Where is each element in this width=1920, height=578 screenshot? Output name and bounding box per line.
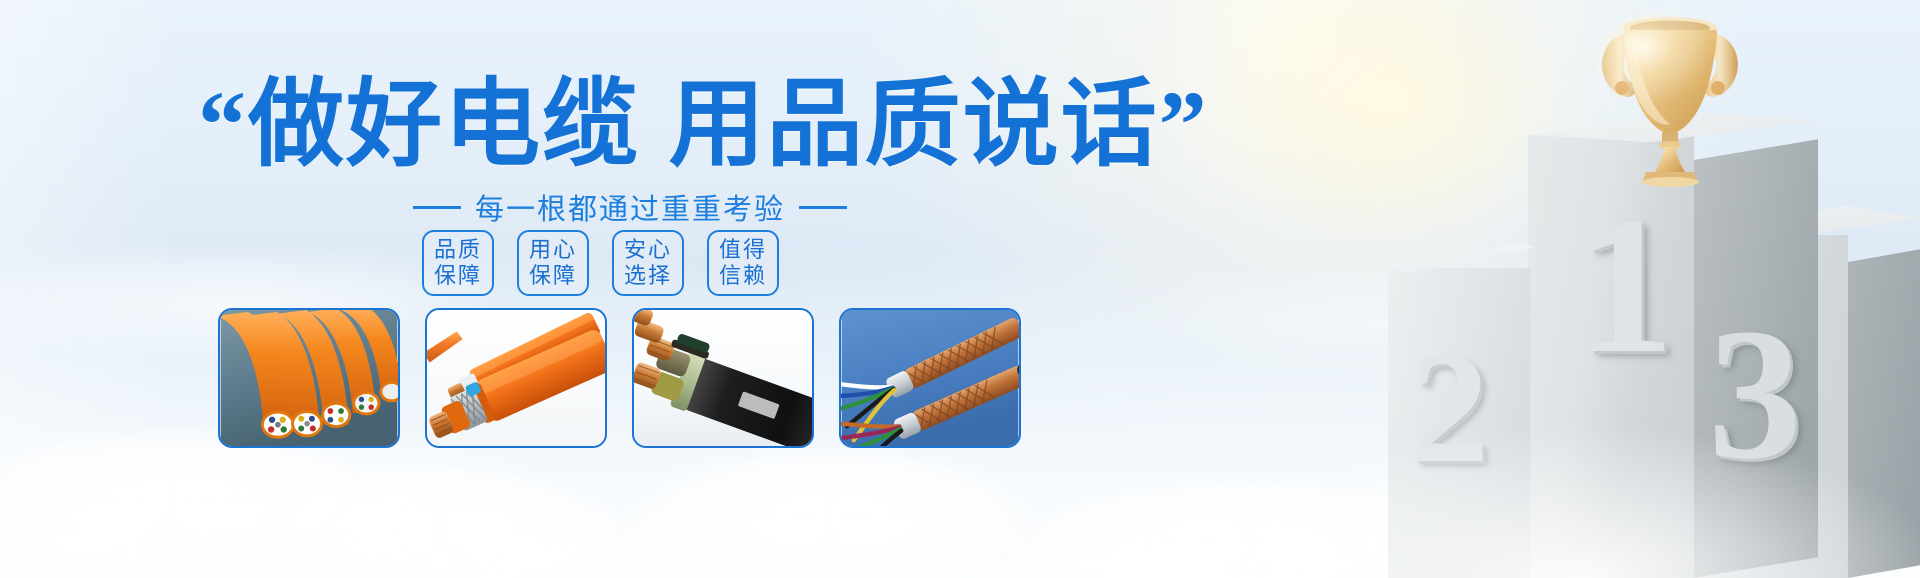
cable-promo-banner: 2 1 3: [0, 0, 1920, 578]
subtitle-text: 每一根都通过重重考验: [475, 186, 785, 228]
headline-part-1: 做好电缆: [248, 71, 640, 178]
product-thumbnail-armored-power-cable[interactable]: [632, 308, 814, 448]
badge-quality-assurance: 品质 保障: [422, 230, 494, 296]
badge-confident-choice: 安心 选择: [612, 230, 684, 296]
product-thumbnail-copper-core-cutaway[interactable]: [425, 308, 607, 448]
product-thumbnail-orange-multicore[interactable]: [218, 308, 400, 448]
winner-podium-group: 2 1 3: [1260, 0, 1920, 578]
podium-block-third-side: [1848, 249, 1920, 578]
product-thumbnail-shielded-control-cable[interactable]: [839, 308, 1021, 448]
badge-line-2: 选择: [624, 263, 672, 289]
badge-trustworthy: 值得 信赖: [707, 230, 779, 296]
badge-line-2: 保障: [529, 263, 577, 289]
badge-line-1: 品质: [434, 237, 482, 263]
product-thumbnail-list: [218, 308, 1021, 448]
headline-space: [640, 71, 669, 178]
podium-number-3: 3: [1708, 300, 1802, 488]
subtitle-rule-left: [413, 206, 461, 209]
badge-line-2: 信赖: [719, 263, 767, 289]
close-quote: ”: [1159, 71, 1209, 178]
subtitle-row: 每一根都通过重重考验: [413, 186, 847, 228]
page-title: “做好电缆 用品质说话”: [198, 72, 1209, 178]
badge-attentive-assurance: 用心 保障: [517, 230, 589, 296]
headline-part-2: 用品质说话: [669, 71, 1159, 178]
badge-line-1: 值得: [719, 237, 767, 263]
cloud-puff: [620, 450, 1040, 578]
gold-trophy-icon: [1560, 0, 1780, 194]
badge-line-2: 保障: [434, 263, 482, 289]
podium-number-1: 1: [1576, 188, 1674, 384]
subtitle-rule-right: [799, 206, 847, 209]
podium-number-2: 2: [1410, 330, 1489, 488]
badge-line-1: 安心: [624, 237, 672, 263]
open-quote: “: [198, 71, 248, 178]
badge-line-1: 用心: [529, 237, 577, 263]
feature-badge-list: 品质 保障 用心 保障 安心 选择 值得 信赖: [422, 230, 779, 296]
